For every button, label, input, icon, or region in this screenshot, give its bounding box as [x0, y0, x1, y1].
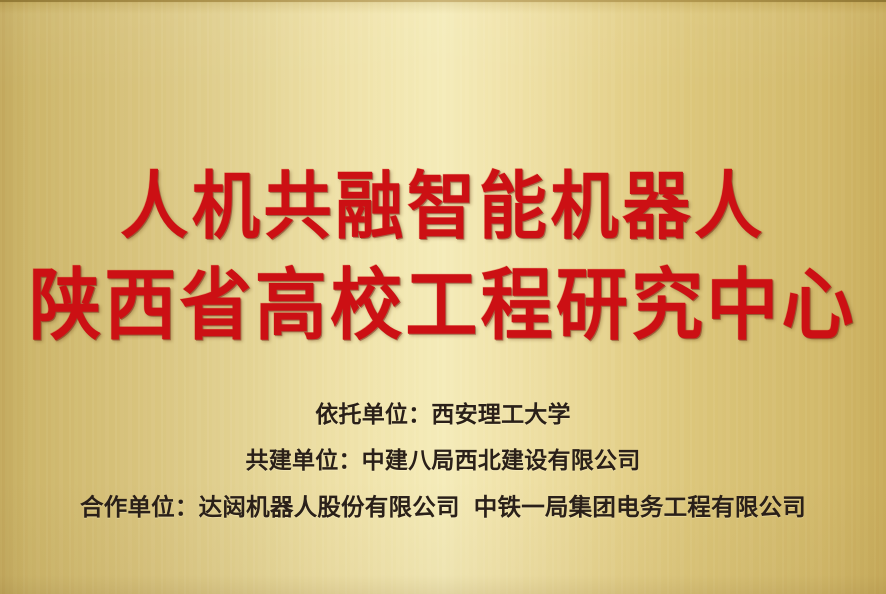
plaque-title-line-2: 陕西省高校工程研究中心 — [0, 266, 886, 344]
cooperating-institution-1: 合作单位：达闼机器人股份有限公司 — [80, 493, 460, 521]
plaque-title-block: 人机共融智能机器人 陕西省高校工程研究中心 — [0, 170, 886, 338]
award-plaque: 人机共融智能机器人 陕西省高校工程研究中心 依托单位：西安理工大学 共建单位：中… — [0, 0, 886, 594]
plaque-content: 人机共融智能机器人 陕西省高校工程研究中心 依托单位：西安理工大学 共建单位：中… — [0, 0, 886, 594]
cooperating-institutions-line: 合作单位：达闼机器人股份有限公司中铁一局集团电务工程有限公司 — [0, 484, 886, 530]
co-construction-institution-line: 共建单位：中建八局西北建设有限公司 — [0, 438, 886, 484]
cooperating-institution-2: 中铁一局集团电务工程有限公司 — [474, 493, 806, 521]
supporting-institution-line: 依托单位：西安理工大学 — [0, 392, 886, 438]
plaque-title-line-1: 人机共融智能机器人 — [0, 170, 886, 250]
plaque-subtitle-block: 依托单位：西安理工大学 共建单位：中建八局西北建设有限公司 合作单位：达闼机器人… — [0, 392, 886, 530]
